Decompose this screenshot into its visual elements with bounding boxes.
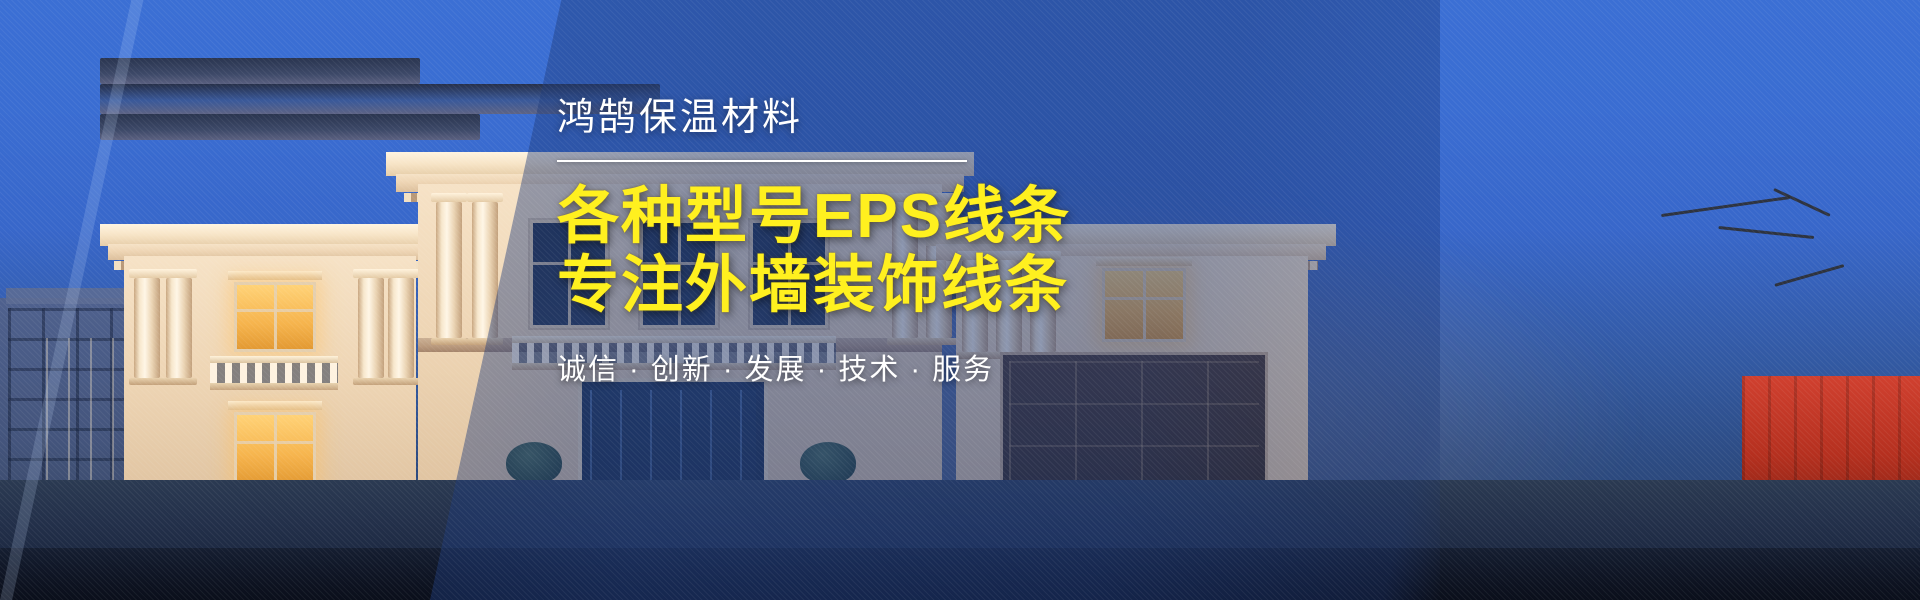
- balcony-balustrade: [210, 356, 338, 390]
- left-wing-roof: [100, 58, 420, 84]
- left-wing-cornice: [100, 224, 440, 246]
- banner-subtitle: 鸿鹄保温材料: [557, 96, 1357, 142]
- shrub: [800, 442, 856, 484]
- balustrade-rail: [210, 356, 338, 363]
- balustrade-base: [210, 383, 338, 390]
- window-mullion: [274, 415, 277, 483]
- left-wing-column: [358, 278, 384, 378]
- balustrade-posts: [210, 363, 338, 383]
- banner-tagline: 诚信 · 创新 · 发展 · 技术 · 服务: [557, 346, 1357, 388]
- window-mullion: [274, 285, 277, 349]
- title-divider: [557, 160, 967, 162]
- center-column: [472, 202, 498, 338]
- left-wing-column: [134, 278, 160, 378]
- window-lit: [234, 282, 316, 352]
- center-column: [436, 202, 462, 338]
- hero-banner: 鸿鹄保温材料 各种型号EPS线条 专注外墙装饰线条 诚信 · 创新 · 发展 ·…: [0, 0, 1920, 600]
- left-wing-column: [388, 278, 414, 378]
- window-transom: [237, 309, 313, 312]
- shrub: [506, 442, 562, 484]
- banner-headline-line-1: 各种型号EPS线条: [557, 182, 1357, 251]
- foreground-shadow: [0, 548, 1920, 600]
- banner-copy: 鸿鹄保温材料 各种型号EPS线条 专注外墙装饰线条 诚信 · 创新 · 发展 ·…: [557, 96, 1357, 388]
- window-lit: [234, 412, 316, 486]
- window-transom: [237, 441, 313, 444]
- banner-headline-line-2: 专注外墙装饰线条: [557, 251, 1357, 320]
- right-wing-roof: [100, 114, 480, 140]
- window-head-trim: [228, 401, 322, 410]
- window-head-trim: [228, 271, 322, 280]
- left-wing-column: [166, 278, 192, 378]
